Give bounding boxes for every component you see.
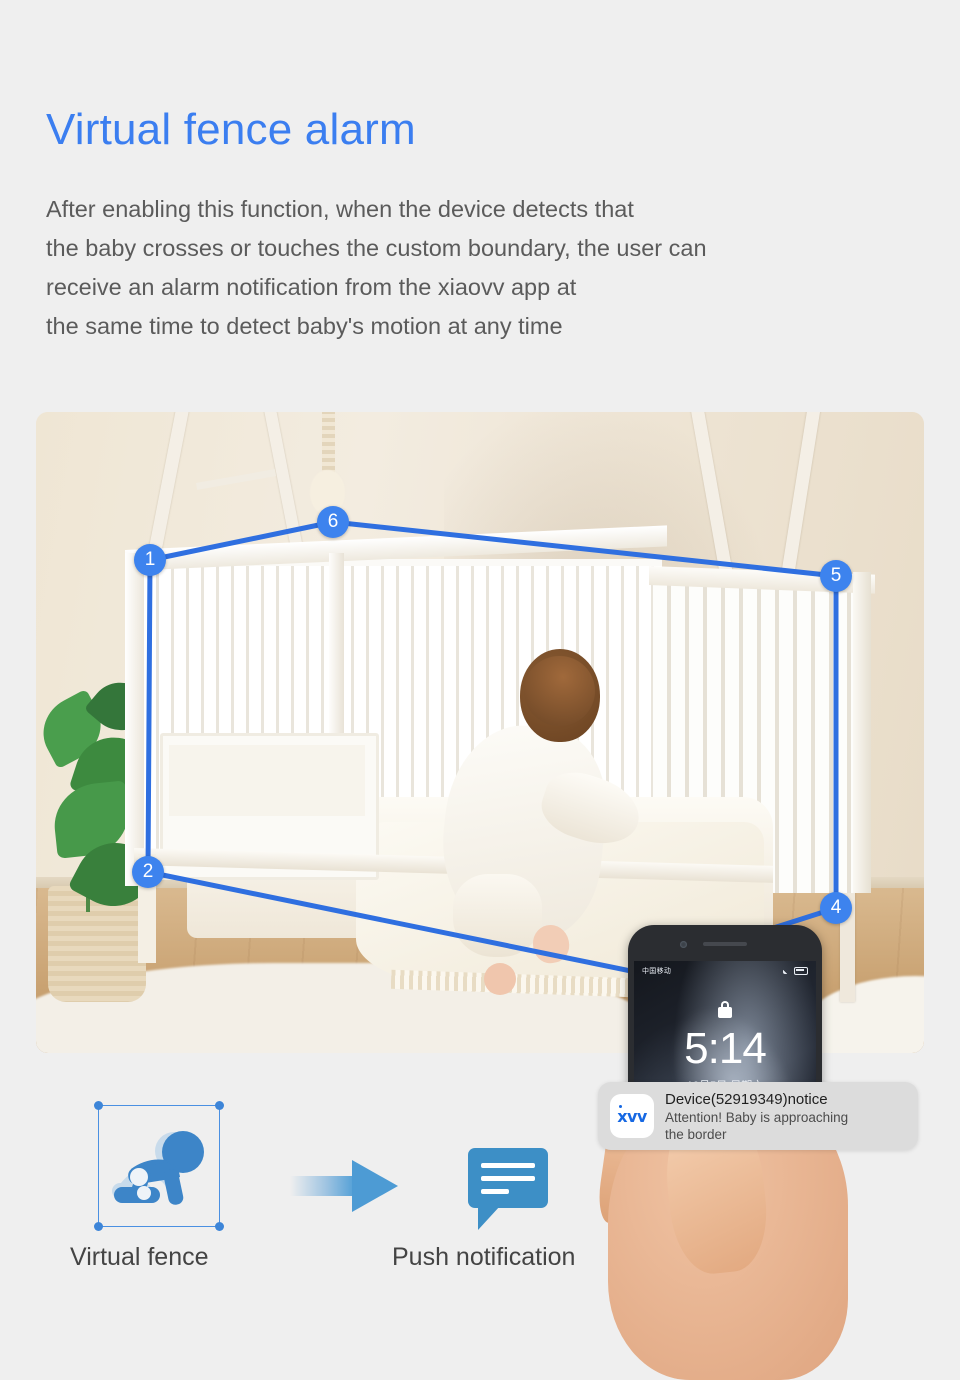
wifi-icon [783,968,791,974]
bubble-text-line [481,1189,509,1194]
selection-handle-top-left[interactable] [94,1101,103,1110]
front-camera-icon [680,941,687,948]
speech-bubble-body [468,1148,548,1208]
lockscreen-clock: 5:14 [634,1025,816,1073]
virtual-fence-icon [98,1105,220,1227]
selection-handle-top-right[interactable] [215,1101,224,1110]
arrow-right-icon [290,1158,402,1214]
lock-icon [718,1007,732,1018]
fence-point-marker-1[interactable]: 1 [134,544,166,576]
description-line-1: After enabling this function, when the d… [46,190,926,229]
fence-point-marker-5[interactable]: 5 [820,560,852,592]
arrow-head [352,1160,398,1212]
carrier-label: 中国移动 [642,966,671,976]
description-line-3: receive an alarm notification from the x… [46,268,926,307]
notification-text: Device(52919349)notice Attention! Baby i… [665,1090,848,1143]
description-line-4: the same time to detect baby's motion at… [46,307,926,346]
battery-icon [794,967,808,975]
notification-body-line-2: the border [665,1126,848,1143]
page-title: Virtual fence alarm [46,105,416,155]
page-description: After enabling this function, when the d… [46,190,926,346]
earpiece-speaker [703,942,747,946]
fence-point-marker-2[interactable]: 2 [132,856,164,888]
bubble-text-line [481,1163,535,1168]
status-bar: 中国移动 [634,965,816,977]
speech-bubble-icon [468,1148,548,1228]
logo-dot [619,1105,622,1108]
fence-point-marker-6[interactable]: 6 [317,506,349,538]
page-root: Virtual fence alarm After enabling this … [0,0,960,1369]
selection-handle-bottom-right[interactable] [215,1222,224,1231]
app-logo-text: xvv [617,1107,646,1126]
bubble-text-line [481,1176,535,1181]
description-line-2: the baby crosses or touches the custom b… [46,229,926,268]
feature-label-push-notification: Push notification [392,1243,575,1272]
arrow-shaft [290,1176,356,1196]
feature-label-virtual-fence: Virtual fence [70,1243,209,1272]
selection-box[interactable] [98,1105,220,1227]
status-icons [783,967,808,975]
fence-point-marker-4[interactable]: 4 [820,892,852,924]
push-notification-card[interactable]: xvv Device(52919349)notice Attention! Ba… [598,1082,918,1150]
notification-body-line-1: Attention! Baby is approaching [665,1109,848,1126]
app-logo-icon: xvv [610,1094,654,1138]
selection-handle-bottom-left[interactable] [94,1222,103,1231]
notification-title: Device(52919349)notice [665,1090,848,1109]
